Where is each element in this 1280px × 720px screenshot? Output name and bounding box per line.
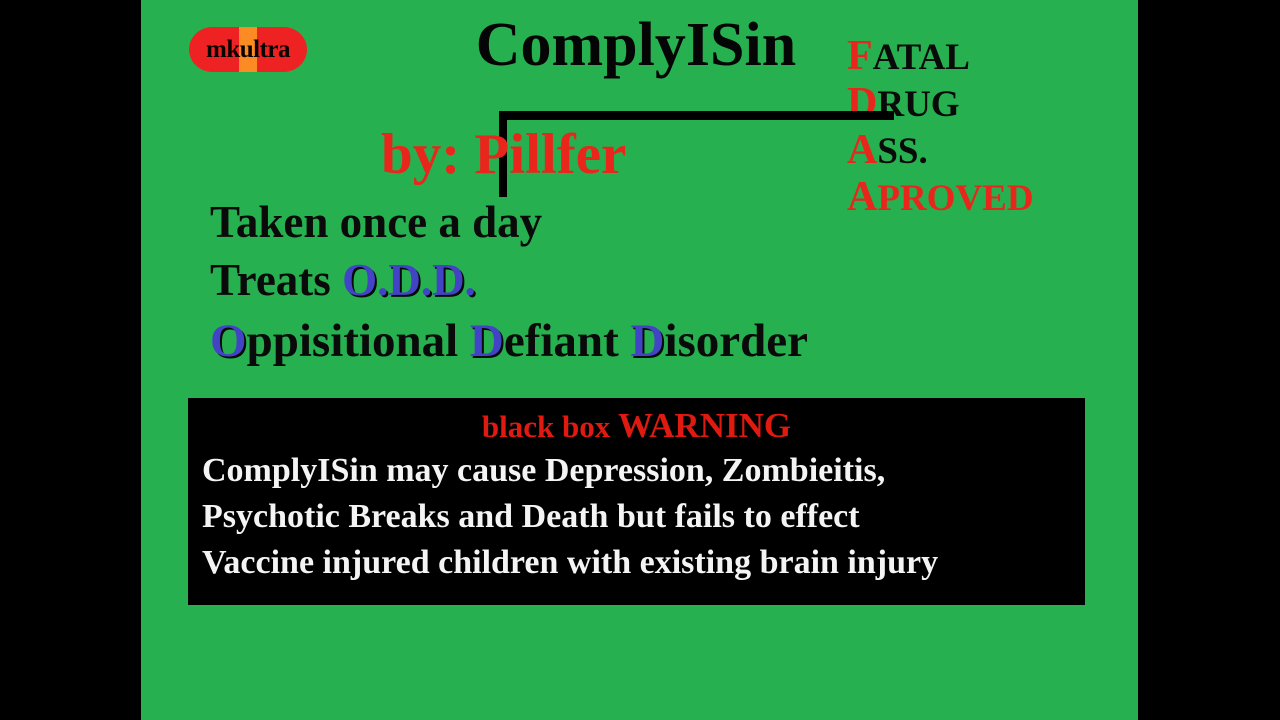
expansion-cap-d2: D [630,315,664,367]
mkultra-pill-logo: mkultra [189,27,307,72]
green-poster-area: mkultra ComplyISin FATAL DRUG ASS. APROV… [141,0,1138,720]
treats-prefix: Treats [210,255,342,305]
expansion-rest-disorder: isorder [664,315,808,367]
expansion-space-2 [619,315,631,367]
approval-stamp: FATAL DRUG ASS. APROVED [847,30,1034,218]
expansion-cap-d1: D [470,315,504,367]
dosing-line: Taken once a day [210,200,542,245]
black-box-warning: black box WARNING ComplyISin may cause D… [188,398,1085,605]
expansion-rest-oppisitional: ppisitional [247,315,459,367]
warning-heading-small: black box [482,409,618,444]
pill-logo-label: mkultra [189,27,307,72]
approval-rest-fatal: ATAL [873,37,970,78]
bracket-horizontal-rule [499,111,894,120]
byline-manufacturer: by: Pillfer [381,126,626,183]
warning-body-text: ComplyISin may cause Depression, Zombiei… [202,448,1077,587]
warning-heading: black box WARNING [188,406,1085,446]
warning-body-line-2: Psychotic Breaks and Death but fails to … [202,494,1077,540]
approval-cap-a: A [847,127,877,173]
warning-body-line-3: Vaccine injured children with existing b… [202,540,1077,586]
approval-line-ass: ASS. [847,124,1034,171]
approval-rest-ass: SS. [877,131,927,172]
approval-line-aproved: APROVED [847,171,1034,218]
odd-expansion-line: Oppisitional Defiant Disorder [210,318,808,365]
warning-heading-big: WARNING [618,406,791,445]
expansion-space-1 [458,315,470,367]
expansion-rest-defiant: efiant [504,315,619,367]
approval-rest-aproved: PROVED [877,178,1033,219]
poster-canvas: mkultra ComplyISin FATAL DRUG ASS. APROV… [0,0,1280,720]
expansion-cap-o: O [210,315,247,367]
approval-cap-a2: A [847,174,877,220]
approval-cap-f: F [847,33,873,79]
approval-line-fatal: FATAL [847,30,1034,77]
warning-body-line-1: ComplyISin may cause Depression, Zombiei… [202,448,1077,494]
odd-abbreviation: O.D.D. [342,255,476,305]
drug-name-title: ComplyISin [391,14,881,76]
treats-line: Treats O.D.D. [210,258,476,303]
